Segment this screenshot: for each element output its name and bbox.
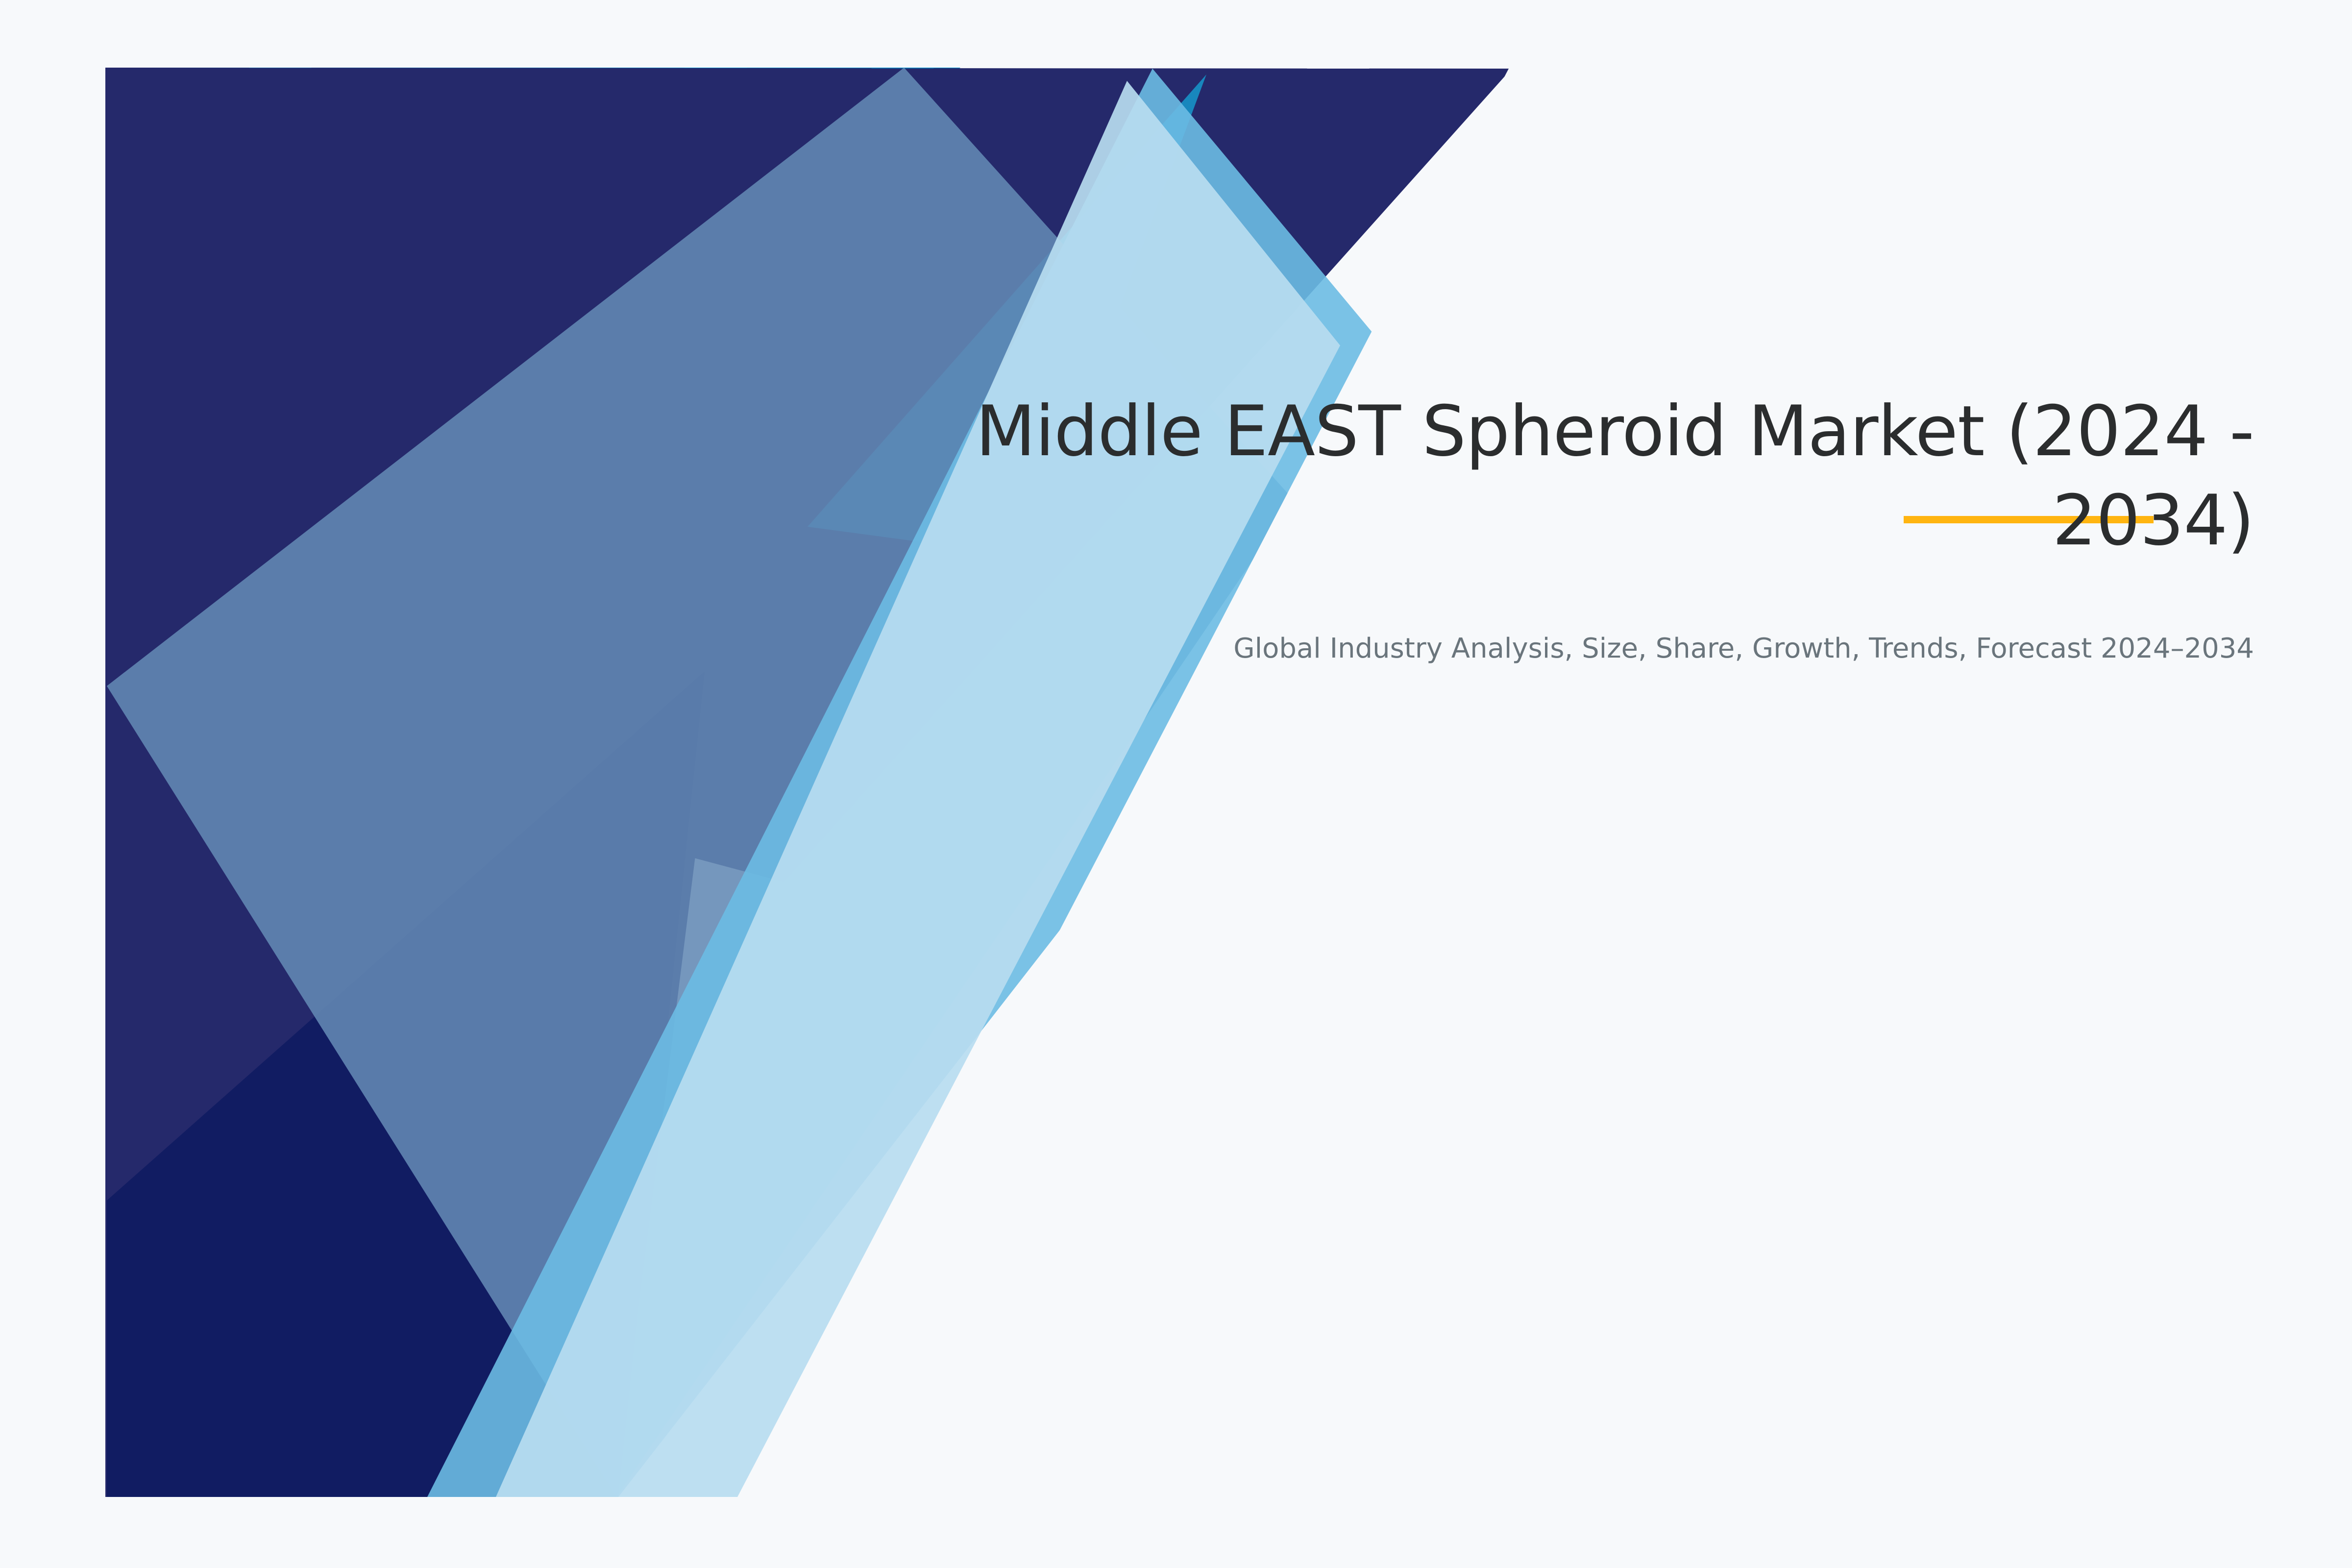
title-wrapper: Middle EAST Spheroid Market (2024 - 2034…	[759, 387, 2254, 565]
abstract-polygon-artwork	[0, 0, 2352, 1568]
report-cover: Middle EAST Spheroid Market (2024 - 2034…	[0, 0, 2352, 1568]
page-title: Middle EAST Spheroid Market (2024 - 2034…	[759, 387, 2254, 565]
page-subtitle: Global Industry Analysis, Size, Share, G…	[759, 630, 2254, 667]
cover-text-block: Middle EAST Spheroid Market (2024 - 2034…	[759, 387, 2254, 667]
